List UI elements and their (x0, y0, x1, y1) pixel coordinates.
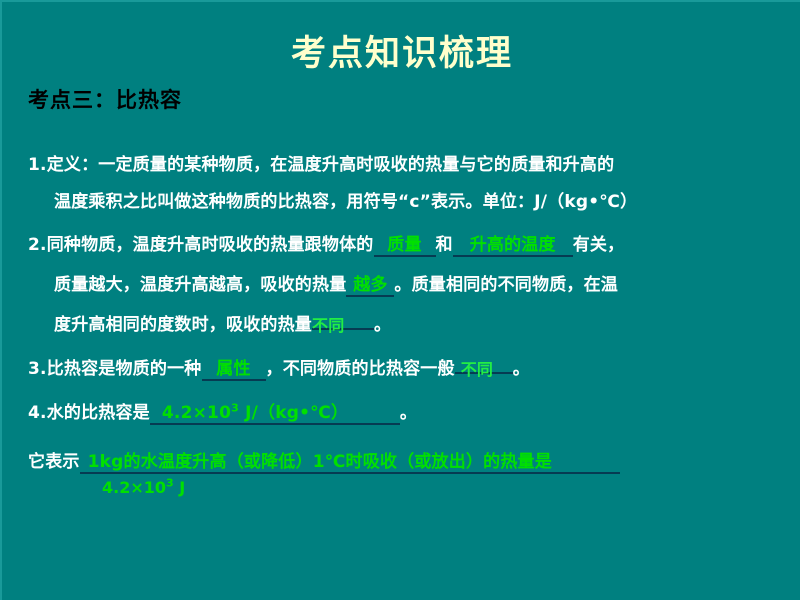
item3-answer-1: 属性 (216, 359, 250, 379)
item1-line1-text: 定义：一定质量的某种物质，在温度升高时吸收的热量与它的质量和升高的 (47, 155, 615, 175)
item3-blank-1[interactable]: 属性 (202, 354, 266, 381)
item1-line2: 温度乘积之比叫做这种物质的比热容，用符号“c”表示。单位：J/（kg•℃） (54, 187, 637, 212)
item2-blank-4[interactable]: 不同 (312, 328, 374, 330)
item2-line3-text-b: 。 (374, 315, 391, 335)
item2-answer-2: 升高的温度 (470, 235, 556, 255)
item5-blank[interactable]: 1kg的水温度升高（或降低）1℃时吸收（或放出）的热量是 (80, 447, 620, 474)
slide-canvas: 考点知识梳理 考点三：比热容 1.定义：一定质量的某种物质，在温度升高时吸收的热… (0, 0, 800, 600)
item3-text-b: ，不同物质的比热容一般 (266, 359, 455, 379)
item3-blank-2[interactable]: 不同 (455, 372, 513, 374)
item1-line2-text: 温度乘积之比叫做这种物质的比热容，用符号“c”表示。单位： (54, 192, 534, 212)
item2-number: 2. (28, 235, 47, 255)
item4-line: 4.水的比热容是4.2×103 J/（kg•℃）。 (28, 398, 417, 425)
item1-unit: J/（kg•℃） (534, 192, 637, 212)
item2-answer-1: 质量 (387, 235, 421, 255)
item5-answer-line2-sup: 3 (166, 477, 174, 490)
item2-line1-text-b: 和 (436, 235, 453, 255)
item4-answer-main: 4.2×10 (150, 403, 231, 423)
item2-line2-text-b: 。质量相同的不同物质，在温 (394, 275, 618, 295)
item3-text-c: 。 (513, 359, 530, 379)
item2-blank-2[interactable]: 升高的温度 (453, 230, 573, 257)
item2-blank-3[interactable]: 越多 (346, 270, 394, 297)
item2-line3-text-a: 度升高相同的度数时，吸收的热量 (54, 315, 312, 335)
item1-number: 1. (28, 155, 47, 175)
item4-answer-unit: J/（kg•℃） (239, 403, 348, 423)
item3-number: 3. (28, 359, 47, 379)
item4-text-b: 。 (400, 403, 417, 423)
item3-answer-2: 不同 (461, 356, 493, 380)
item2-line2: 质量越大，温度升高越高，吸收的热量越多。质量相同的不同物质，在温 (54, 270, 618, 297)
item5-answer-line2: 4.2×103 J (102, 478, 185, 497)
item4-blank[interactable]: 4.2×103 J/（kg•℃） (150, 398, 400, 425)
section-subtitle: 考点三：比热容 (28, 84, 182, 114)
item3-text-a: 比热容是物质的一种 (47, 359, 202, 379)
item2-line1: 2.同种物质，温度升高时吸收的热量跟物体的质量和升高的温度有关， (28, 230, 624, 257)
item5-line: 它表示1kg的水温度升高（或降低）1℃时吸收（或放出）的热量是 (28, 447, 620, 474)
item5-answer-line1: 1kg的水温度升高（或降低）1℃时吸收（或放出）的热量是 (80, 452, 552, 472)
item2-line2-text-a: 质量越大，温度升高越高，吸收的热量 (54, 275, 346, 295)
item5-answer-line2-unit: J (174, 478, 186, 497)
item4-number: 4. (28, 403, 47, 423)
page-title: 考点知识梳理 (2, 35, 800, 74)
item2-line3: 度升高相同的度数时，吸收的热量不同。 (54, 310, 391, 335)
item2-answer-4: 不同 (312, 312, 344, 336)
item3-line: 3.比热容是物质的一种属性，不同物质的比热容一般不同。 (28, 354, 530, 381)
item2-blank-1[interactable]: 质量 (374, 230, 436, 257)
item4-answer-sup: 3 (231, 401, 239, 414)
item5-label: 它表示 (28, 452, 80, 472)
item4-text-a: 水的比热容是 (47, 403, 150, 423)
item2-answer-3: 越多 (353, 275, 387, 295)
item5-answer-line2-main: 4.2×10 (102, 478, 166, 497)
item2-line1-text-a: 同种物质，温度升高时吸收的热量跟物体的 (47, 235, 374, 255)
item2-line1-text-c: 有关， (573, 235, 625, 255)
item1-line1: 1.定义：一定质量的某种物质，在温度升高时吸收的热量与它的质量和升高的 (28, 150, 614, 175)
